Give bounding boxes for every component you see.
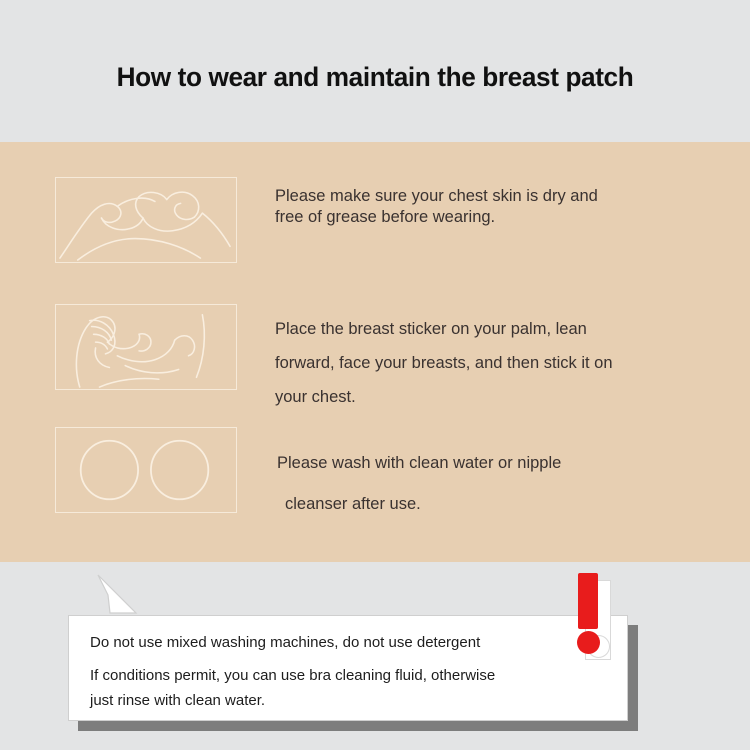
step-1-text: Please make sure your chest skin is dry …: [275, 186, 705, 228]
step-1-thumbnail: [55, 177, 237, 263]
step-3-text: Please wash with clean water or nipple c…: [277, 443, 707, 525]
steps-panel: Please make sure your chest skin is dry …: [0, 142, 750, 562]
warning-callout: Do not use mixed washing machines, do no…: [68, 615, 628, 721]
step-text-line: Please wash with clean water or nipple: [277, 443, 707, 484]
step-row: Place the breast sticker on your palm, l…: [0, 304, 750, 414]
step-text-line: Please make sure your chest skin is dry …: [275, 186, 705, 207]
step-2-thumbnail: [55, 304, 237, 390]
warning-text-line: If conditions permit, you can use bra cl…: [90, 662, 590, 690]
product-instruction-card: How to wear and maintain the breast patc…: [0, 0, 750, 750]
step-text-line: your chest.: [275, 380, 705, 414]
step-2-text: Place the breast sticker on your palm, l…: [275, 312, 705, 414]
two-hands-holding-patch-icon: [56, 178, 236, 262]
step-row: Please make sure your chest skin is dry …: [0, 177, 750, 263]
callout-box: Do not use mixed washing machines, do no…: [68, 615, 628, 721]
step-text-line: free of grease before wearing.: [275, 207, 705, 228]
step-text-line: Place the breast sticker on your palm, l…: [275, 312, 705, 346]
step-3-thumbnail: [55, 427, 237, 513]
step-text-line: cleanser after use.: [277, 484, 707, 525]
exclamation-dot: [577, 631, 600, 654]
warning-text: Do not use mixed washing machines, do no…: [90, 628, 590, 711]
step-text-line: forward, face your breasts, and then sti…: [275, 346, 705, 380]
page-title: How to wear and maintain the breast patc…: [11, 62, 739, 93]
exclamation-bar: [578, 573, 598, 629]
two-round-patches-icon: [56, 428, 236, 512]
header-band: How to wear and maintain the breast patc…: [0, 0, 750, 142]
callout-tail-icon: [96, 573, 140, 617]
step-row: Please wash with clean water or nipple c…: [0, 427, 750, 525]
warning-text-line: just rinse with clean water.: [90, 690, 590, 711]
exclamation-mark-icon: [573, 573, 621, 663]
hand-applying-patch-to-chest-icon: [56, 305, 236, 389]
warning-text-line: Do not use mixed washing machines, do no…: [90, 628, 590, 658]
warning-area: Do not use mixed washing machines, do no…: [0, 562, 750, 750]
